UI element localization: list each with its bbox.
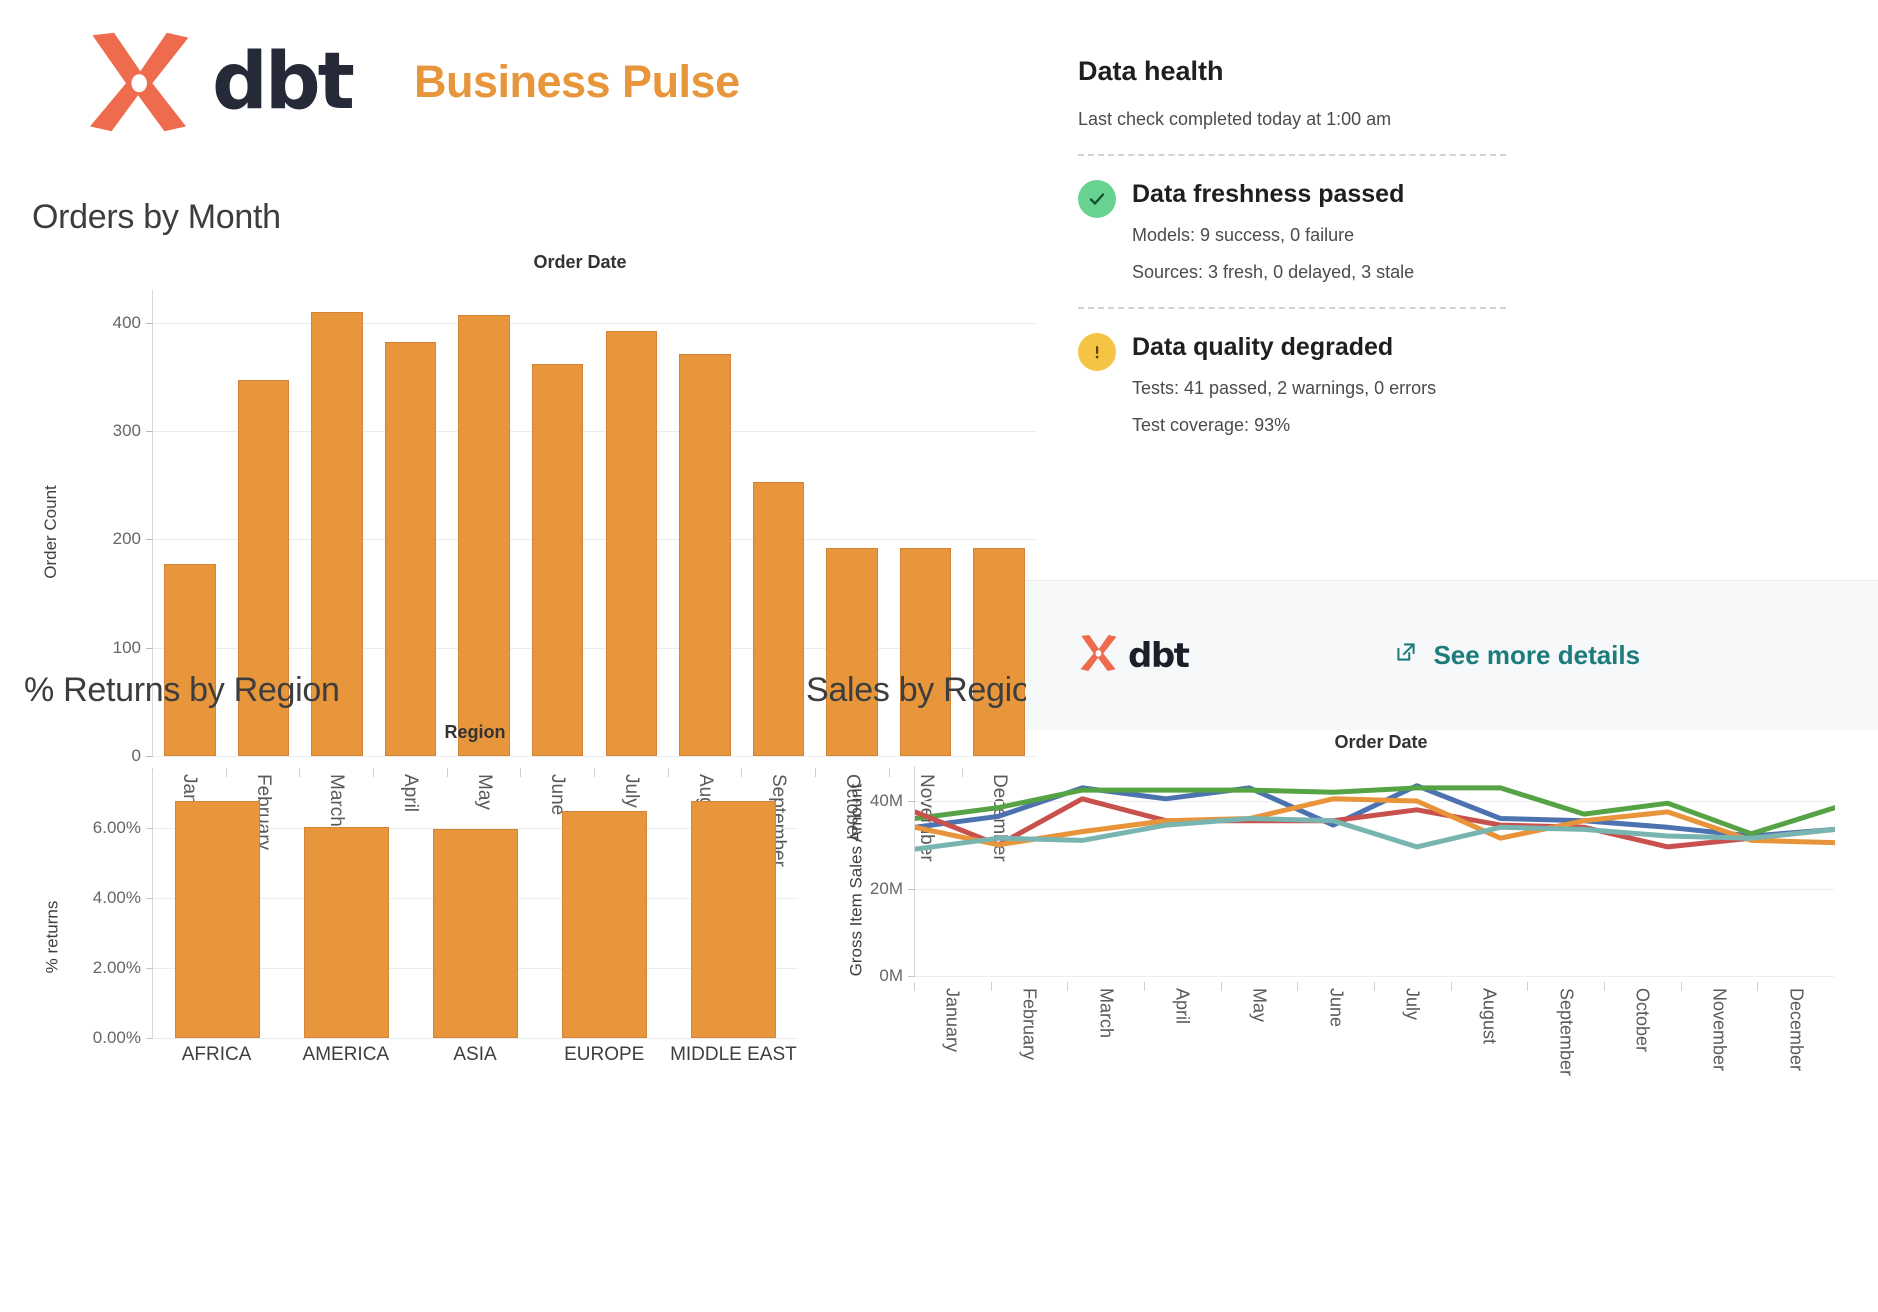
x-tick-slot: March — [1067, 982, 1144, 1102]
see-more-details-link[interactable]: See more details — [1393, 639, 1640, 672]
y-tick-label: 100 — [113, 638, 141, 658]
returns-by-region-title: % Returns by Region — [24, 671, 340, 710]
y-tickmark — [146, 539, 153, 540]
bar-slot[interactable] — [521, 290, 595, 756]
x-tickmark — [1681, 982, 1682, 991]
orders-y-axis-title: Order Count — [41, 485, 61, 579]
see-more-details-label: See more details — [1433, 640, 1640, 671]
x-tick-label: EUROPE — [540, 1044, 669, 1066]
x-tickmark — [914, 982, 915, 991]
data-health-panel: Data health Last check completed today a… — [1078, 56, 1878, 436]
bar[interactable] — [606, 331, 658, 756]
x-tick-label: July — [1402, 988, 1423, 1020]
data-health-title: Data health — [1078, 56, 1878, 87]
x-tick-label: December — [1785, 988, 1806, 1071]
sales-by-region-chart: Order Date Gross Item Sales Amount 0M20M… — [806, 722, 1876, 1122]
dashboard-page: dbt Business Pulse Orders by Month Order… — [0, 0, 1878, 1312]
bar[interactable] — [385, 342, 437, 756]
dbt-logo-lockup: dbt — [78, 28, 352, 136]
check-circle-icon — [1078, 180, 1116, 218]
x-tick-label: April — [1172, 988, 1193, 1024]
health-headline: Data quality degraded — [1132, 333, 1436, 362]
sales-chart-header: Order Date — [906, 732, 1856, 753]
x-tickmark — [1297, 982, 1298, 991]
y-tickmark — [146, 968, 153, 969]
y-tickmark — [146, 828, 153, 829]
bar[interactable] — [753, 482, 805, 756]
sales-plot-area: 0M20M40M — [914, 766, 1834, 976]
y-tick-label: 400 — [113, 313, 141, 333]
returns-by-region-chart: Region % returns 0.00%2.00%4.00%6.00% AF… — [24, 722, 814, 1112]
x-tickmark — [991, 982, 992, 991]
health-divider-1 — [1078, 154, 1506, 156]
y-tick-label: 20M — [870, 879, 903, 899]
bar[interactable] — [304, 827, 389, 1038]
y-tickmark — [146, 1038, 153, 1039]
bar-slot[interactable] — [447, 290, 521, 756]
x-tick-slot: June — [1297, 982, 1374, 1102]
bar[interactable] — [458, 315, 510, 756]
y-tickmark — [146, 431, 153, 432]
y-tick-label: 4.00% — [93, 888, 141, 908]
bar-slot[interactable] — [540, 772, 669, 1038]
x-tickmark — [1451, 982, 1452, 991]
orders-by-month-title: Orders by Month — [32, 198, 281, 237]
x-tickmark — [1067, 982, 1068, 991]
health-divider-2 — [1078, 307, 1506, 309]
x-tickmark — [1527, 982, 1528, 991]
x-tickmark — [1604, 982, 1605, 991]
bar-slot[interactable] — [411, 772, 540, 1038]
sales-x-axis-labels: JanuaryFebruaryMarchAprilMayJuneJulyAugu… — [914, 982, 1834, 1102]
y-tick-label: 0M — [879, 966, 903, 986]
page-header: dbt Business Pulse — [78, 28, 740, 136]
health-item-quality: Data quality degraded Tests: 41 passed, … — [1078, 333, 1878, 436]
y-tickmark — [908, 801, 915, 802]
bar-slot[interactable] — [374, 290, 448, 756]
x-tick-slot: November — [1681, 982, 1758, 1102]
y-tick-label: 6.00% — [93, 818, 141, 838]
x-tickmark — [1144, 982, 1145, 991]
x-tick-label: May — [1249, 988, 1270, 1022]
sales-y-axis-title: Gross Item Sales Amount — [846, 784, 866, 977]
health-detail-sources: Sources: 3 fresh, 0 delayed, 3 stale — [1132, 262, 1414, 283]
x-tick-slot: August — [1451, 982, 1528, 1102]
y-tickmark — [908, 889, 915, 890]
bar-slot[interactable] — [742, 290, 816, 756]
returns-bar-group — [153, 772, 798, 1038]
y-tick-label: 200 — [113, 529, 141, 549]
line-series-series-green[interactable] — [915, 788, 1835, 834]
health-detail-tests: Tests: 41 passed, 2 warnings, 0 errors — [1132, 378, 1436, 399]
x-tickmark — [1757, 982, 1758, 991]
bar[interactable] — [691, 801, 776, 1038]
health-detail-models: Models: 9 success, 0 failure — [1132, 225, 1414, 246]
gridline — [153, 1038, 798, 1039]
warning-circle-icon — [1078, 333, 1116, 371]
x-tick-label: June — [1325, 988, 1346, 1027]
returns-y-axis-title: % returns — [42, 901, 62, 974]
x-tick-slot: September — [1527, 982, 1604, 1102]
dbt-logo-lockup-small: dbt — [1076, 633, 1188, 678]
orders-by-month-chart: Order Date Order Count 0100200300400 Jan… — [32, 252, 1022, 642]
bar[interactable] — [433, 829, 518, 1038]
orders-chart-header: Order Date — [152, 252, 1008, 273]
gridline — [915, 976, 1834, 977]
y-tick-label: 300 — [113, 421, 141, 441]
external-link-icon — [1393, 639, 1419, 672]
x-tick-label: February — [1019, 988, 1040, 1060]
x-tick-slot: July — [1374, 982, 1451, 1102]
y-tickmark — [146, 648, 153, 649]
bar-slot[interactable] — [282, 772, 411, 1038]
returns-x-axis-labels: AFRICAAMERICAASIAEUROPEMIDDLE EAST — [152, 1044, 798, 1066]
health-headline: Data freshness passed — [1132, 180, 1414, 209]
x-tick-slot: October — [1604, 982, 1681, 1102]
health-item-freshness: Data freshness passed Models: 9 success,… — [1078, 180, 1878, 283]
x-tick-label: MIDDLE EAST — [669, 1044, 798, 1066]
y-tick-label: 40M — [870, 791, 903, 811]
page-title: Business Pulse — [414, 56, 740, 108]
x-tick-label: ASIA — [410, 1044, 539, 1066]
bar[interactable] — [679, 354, 731, 756]
health-detail-coverage: Test coverage: 93% — [1132, 415, 1436, 436]
sales-line-series — [915, 766, 1835, 976]
bar[interactable] — [562, 811, 647, 1039]
x-tick-slot: May — [1221, 982, 1298, 1102]
x-tickmark — [1221, 982, 1222, 991]
x-tick-slot: January — [914, 982, 991, 1102]
line-series-series-blue[interactable] — [915, 786, 1835, 836]
see-more-details-card[interactable]: dbt See more details — [1026, 580, 1878, 730]
x-tick-slot: December — [1757, 982, 1834, 1102]
y-tick-label: 0.00% — [93, 1028, 141, 1048]
x-tick-label: September — [1555, 988, 1576, 1076]
returns-plot-area: 0.00%2.00%4.00%6.00% — [152, 772, 798, 1038]
bar-slot[interactable] — [668, 290, 742, 756]
y-tickmark — [908, 976, 915, 977]
bar[interactable] — [532, 364, 584, 756]
x-tick-label: January — [942, 988, 963, 1052]
data-health-subtitle: Last check completed today at 1:00 am — [1078, 109, 1878, 130]
x-tick-label: November — [1709, 988, 1730, 1071]
dbt-wordmark: dbt — [212, 43, 352, 121]
y-tick-label: 2.00% — [93, 958, 141, 978]
x-tick-label: August — [1479, 988, 1500, 1044]
bar[interactable] — [175, 801, 260, 1038]
dbt-wordmark-small: dbt — [1128, 636, 1188, 676]
x-tick-label: March — [1095, 988, 1116, 1038]
bar-slot[interactable] — [594, 290, 668, 756]
x-tickmark — [1374, 982, 1375, 991]
bar-slot[interactable] — [669, 772, 798, 1038]
x-tick-slot: April — [1144, 982, 1221, 1102]
x-tick-label: October — [1632, 988, 1653, 1052]
y-tickmark — [146, 323, 153, 324]
x-tick-slot: February — [991, 982, 1068, 1102]
dbt-x-logo-icon — [1076, 633, 1120, 678]
x-tick-label: AMERICA — [281, 1044, 410, 1066]
bar-slot[interactable] — [153, 772, 282, 1038]
sales-by-region-title: Sales by Region — [806, 671, 1049, 710]
y-tickmark — [146, 898, 153, 899]
dbt-x-logo-icon — [78, 28, 198, 136]
x-tick-label: AFRICA — [152, 1044, 281, 1066]
returns-chart-header: Region — [152, 722, 798, 743]
